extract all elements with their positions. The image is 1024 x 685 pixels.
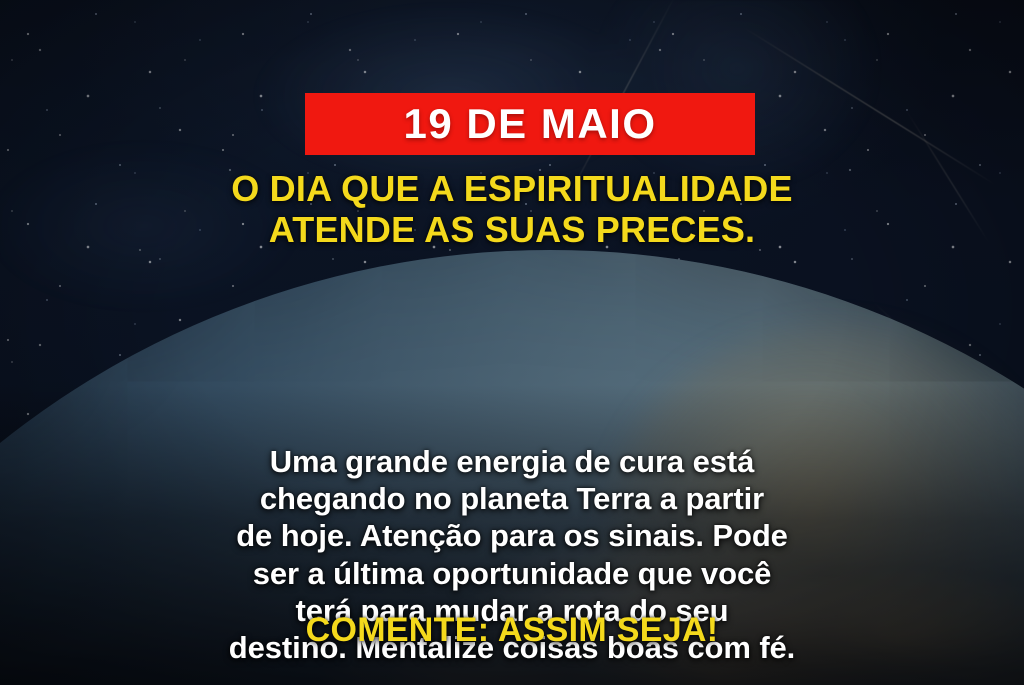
call-to-action-text: COMENTE: ASSIM SEJA! xyxy=(306,611,719,649)
headline-line-2: ATENDE AS SUAS PRECES. xyxy=(0,209,1024,250)
date-banner-text: 19 DE MAIO xyxy=(403,103,656,145)
call-to-action: COMENTE: ASSIM SEJA! xyxy=(0,613,1024,647)
body-copy-line-3: de hoje. Atenção para os sinais. Pode xyxy=(72,517,952,554)
body-copy-line-2: chegando no planeta Terra a partir xyxy=(72,480,952,517)
date-banner: 19 DE MAIO xyxy=(305,93,755,155)
poster-image: 19 DE MAIO O DIA QUE A ESPIRITUALIDADE A… xyxy=(0,0,1024,685)
headline: O DIA QUE A ESPIRITUALIDADE ATENDE AS SU… xyxy=(0,168,1024,250)
poster-content: 19 DE MAIO O DIA QUE A ESPIRITUALIDADE A… xyxy=(0,0,1024,685)
body-copy-line-1: Uma grande energia de cura está xyxy=(72,443,952,480)
body-copy-line-4: ser a última oportunidade que você xyxy=(72,555,952,592)
headline-line-1: O DIA QUE A ESPIRITUALIDADE xyxy=(0,168,1024,209)
